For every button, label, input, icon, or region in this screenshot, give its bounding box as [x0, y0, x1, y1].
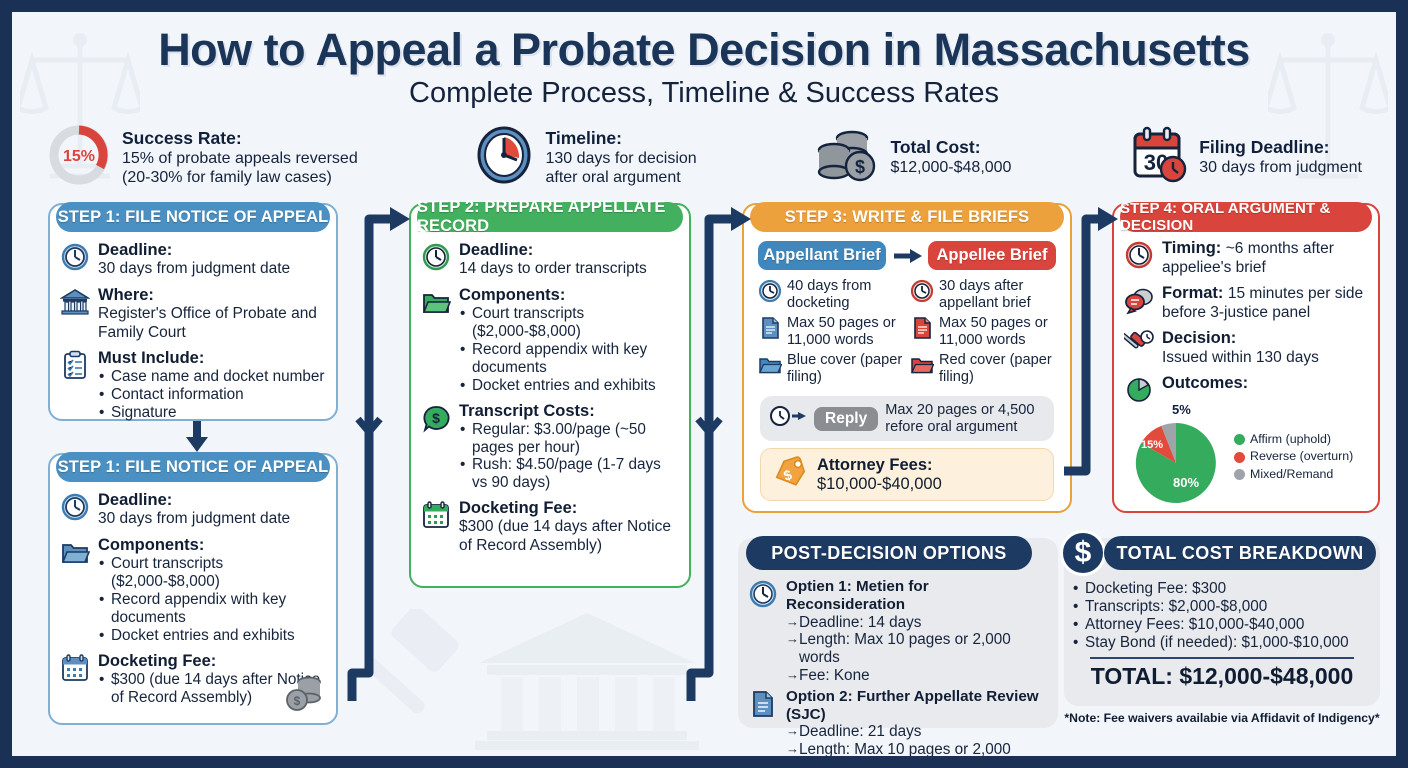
brief-pills: Appellant Brief Appellee Brief: [758, 241, 1056, 270]
clock-blue-icon: [758, 279, 782, 303]
panel-cost-breakdown: $ TOTAL COST BREAKDOWN Docketing Fee: $3…: [1064, 538, 1380, 706]
row-deadline: Deadline:30 days from judgment date: [60, 491, 326, 529]
option-line: Length: Max 10 pages or 2,000 words: [786, 631, 1046, 667]
option-2-list: Deadline: 21 days Length: Max 10 pages o…: [786, 723, 1046, 760]
stat-value-line1: 30 days from judgment: [1199, 159, 1362, 178]
option-1-head: Optien 1: Metien for Reconsideration: [786, 578, 1046, 613]
clock-icon: [473, 124, 535, 191]
row-components: Components: Court transcripts ($2,000-$8…: [421, 286, 679, 395]
stats-strip: 15% Success Rate: 15% of probate appeals…: [12, 110, 1396, 193]
bullet-item: Docket entries and exhibits: [98, 627, 326, 645]
speech-icon: [1124, 285, 1154, 315]
bullet-item: Regular: $3.00/page (~50 pages per hour): [459, 421, 679, 457]
appellee-brief-pill[interactable]: Appellee Brief: [928, 241, 1056, 270]
option-1: Optien 1: Metien for Reconsideration Dea…: [748, 578, 1046, 685]
page-subtitle: Complete Process, Timeline & Success Rat…: [12, 77, 1396, 110]
appellant-length: Max 50 pages or 11,000 words: [758, 315, 904, 348]
appellee-length-text: Max 50 pages or 11,000 words: [939, 315, 1056, 348]
legend-label: Mixed/Remand: [1250, 466, 1333, 484]
clock-red-icon: [910, 279, 934, 303]
row-outcomes: Outcomes:: [1124, 374, 1368, 405]
stat-value-line2: after oral argument: [545, 169, 696, 188]
appellee-length: Max 50 pages or 11,000 words: [910, 315, 1056, 348]
row-deadline: Deadline:14 days to order transcripts: [421, 241, 679, 279]
infographic-frame: How to Appeal a Probate Decision in Mass…: [8, 8, 1400, 760]
stat-success-rate: 15% Success Rate: 15% of probate appeals…: [46, 122, 358, 193]
option-line: Deadline: 21 days: [786, 723, 1046, 741]
appellant-timing: 40 days from docketing: [758, 278, 904, 311]
gavel-clock-icon: [1124, 330, 1154, 360]
row-timing: Timing: ~6 months after appeliee's brief: [1124, 239, 1368, 277]
row-text: Issued within 130 days: [1162, 349, 1319, 366]
steps-board: STEP 1: FILE NOTICE OF APPEAL Deadline:3…: [12, 203, 1396, 749]
row-text: 30 days from judgment date: [98, 260, 290, 277]
outcomes-pie-chart: 5% 80% 15% Affirm (uphold) Reverse (over: [1128, 403, 1368, 503]
page-title: How to Appeal a Probate Decision in Mass…: [12, 26, 1396, 73]
reply-tag: Reply: [814, 407, 878, 431]
legend-swatch: [1234, 434, 1245, 445]
panel-post-decision: POST-DECISION OPTIONS Optien 1: Metien f…: [738, 538, 1058, 728]
appellant-cover: Blue cover (paper filing): [758, 352, 904, 385]
attorney-fees-label: Attorney Fees:: [817, 456, 933, 474]
document-red-icon: [910, 316, 934, 340]
price-tag-icon: $: [771, 455, 809, 494]
option-line: Fee: Kone: [786, 667, 1046, 685]
document-blue-icon: [748, 689, 778, 719]
cost-item: Docketing Fee: $300: [1072, 580, 1372, 598]
row-docketing-fee: Docketing Fee:$300 (due 14 days after No…: [421, 499, 679, 555]
bullet-item: Contact information: [98, 386, 326, 404]
pie-svg: 80% 15%: [1128, 415, 1224, 511]
fee-waiver-note: *Note: Fee waivers availabie via Affidav…: [1064, 711, 1380, 725]
row-head: Deadline:: [98, 241, 326, 260]
coins-icon: $: [812, 124, 880, 191]
clock-green-icon: [421, 242, 451, 272]
row-head: Components:: [98, 536, 326, 555]
appellant-column: 40 days from docketing Max 50 pages or 1…: [758, 278, 904, 389]
divider: [1090, 657, 1354, 659]
pie-icon: [1124, 375, 1154, 405]
appellee-timing-text: 30 days after appellant brief: [939, 278, 1056, 311]
row-deadline: Deadline:30 days from judgment date: [60, 241, 326, 279]
row-text: 14 days to order transcripts: [459, 260, 647, 277]
row-head: Must Include:: [98, 349, 326, 368]
money-bubble-icon: $: [421, 403, 451, 433]
bullet-item: Court transcripts ($2,000-$8,000): [459, 305, 679, 341]
arrow-right-icon: [892, 246, 922, 266]
attorney-fees-value: $10,000-$40,000: [817, 475, 942, 493]
stat-value-line1: 130 days for decision: [545, 150, 696, 169]
appellant-brief-pill[interactable]: Appellant Brief: [758, 241, 886, 270]
stat-value-line1: $12,000-$48,000: [890, 159, 1011, 178]
card-step4: STEP 4: ORAL ARGUMENT & DECISION Timing:…: [1112, 203, 1380, 513]
bullet-list: Case name and docket number Contact info…: [98, 368, 326, 422]
infographic-root: How to Appeal a Probate Decision in Mass…: [0, 0, 1408, 768]
stat-value-line1: 15% of probate appeals reversed: [122, 150, 358, 169]
legend-swatch: [1234, 469, 1245, 480]
option-1-list: Deadline: 14 days Length: Max 10 pages o…: [786, 614, 1046, 686]
row-text: Register's Office of Probate and Family …: [98, 305, 317, 341]
row-head: Timing:: [1162, 239, 1221, 257]
reply-brief-bar: Reply Max 20 pages or 4,500 refore oral …: [760, 396, 1054, 441]
row-must-include: Must Include: Case name and docket numbe…: [60, 349, 326, 422]
bullet-item: Court transcripts ($2,000-$8,000): [98, 555, 326, 591]
bullet-item: Case name and docket number: [98, 368, 326, 386]
row-head: Docketing Fee:: [98, 652, 326, 671]
option-line: Deadline: 14 days: [786, 614, 1046, 632]
row-head: Transcript Costs:: [459, 402, 679, 421]
legend-item-reverse: Reverse (overturn): [1234, 448, 1353, 466]
stat-filing-deadline: 30 Filing Deadline: 30 days from judgmen…: [1127, 122, 1362, 193]
card-step2: STEP 2: PREPARE APPELLATE RECORD Deadlin…: [409, 203, 691, 588]
legend-swatch: [1234, 452, 1245, 463]
row-text: $300 (due 14 days after Notice of Record…: [459, 518, 671, 554]
svg-text:$: $: [855, 157, 865, 177]
legend-label: Affirm (uphold): [1250, 431, 1331, 449]
courthouse-icon: [60, 287, 90, 317]
card-step3: STEP 3: WRITE & FILE BRIEFS Appellant Br…: [742, 203, 1072, 513]
stat-value-line2: (20-30% for family law cases): [122, 169, 358, 188]
bullet-list: Regular: $3.00/page (~50 pages per hour)…: [459, 421, 679, 493]
folder-green-icon: [421, 287, 451, 317]
legend-item-mixed: Mixed/Remand: [1234, 466, 1353, 484]
legend-label: Reverse (overturn): [1250, 448, 1353, 466]
clock-icon: [60, 492, 90, 522]
appellee-column: 30 days after appellant brief Max 50 pag…: [910, 278, 1056, 389]
clock-arrow-icon: [769, 405, 807, 432]
card-step1b: STEP 1: FILE NOTICE OF APPEAL Deadline:3…: [48, 453, 338, 725]
appellant-timing-text: 40 days from docketing: [787, 278, 904, 311]
calendar-green-icon: [421, 500, 451, 530]
cost-item: Stay Bond (if needed): $1,000-$10,000: [1072, 634, 1372, 652]
donut-15-percent-icon: 15%: [46, 122, 112, 193]
row-decision: Decision:Issued within 130 days: [1124, 329, 1368, 367]
row-head: Docketing Fee:: [459, 499, 679, 518]
cost-items: Docketing Fee: $300 Transcripts: $2,000-…: [1072, 580, 1372, 652]
cost-total: TOTAL: $12,000-$48,000: [1072, 663, 1372, 690]
option-2: Option 2: Further Appellate Review (SJC)…: [748, 688, 1046, 760]
coins-decoration-icon: $: [284, 672, 326, 717]
pie-legend: Affirm (uphold) Reverse (overturn) Mixed…: [1234, 431, 1353, 484]
document-blue-icon: [758, 316, 782, 340]
dollar-badge-icon: $: [1060, 530, 1106, 576]
row-head: Components:: [459, 286, 679, 305]
folder-blue-icon: [758, 353, 782, 377]
attorney-fees-bar: $ Attorney Fees: $10,000-$40,000: [760, 448, 1054, 501]
folder-red-icon: [910, 353, 934, 377]
card-step1a-title: STEP 1: FILE NOTICE OF APPEAL: [56, 202, 330, 232]
card-step2-title: STEP 2: PREPARE APPELLATE RECORD: [417, 202, 683, 232]
pie-label-affirm: 80%: [1173, 475, 1199, 490]
row-components: Components: Court transcripts ($2,000-$8…: [60, 536, 326, 645]
cost-total-label: TOTAL:: [1091, 663, 1173, 689]
stat-label: Filing Deadline:: [1199, 137, 1329, 157]
appellee-timing: 30 days after appellant brief: [910, 278, 1056, 311]
clock-red-icon: [1124, 240, 1154, 270]
cost-breakdown-title: TOTAL COST BREAKDOWN: [1104, 536, 1376, 570]
bullet-item: Record appendix with key documents: [98, 591, 326, 627]
pie-label-reverse: 15%: [1141, 439, 1163, 451]
row-text: 30 days from judgment date: [98, 510, 290, 527]
bullet-item: Signature: [98, 404, 326, 422]
row-head: Format:: [1162, 284, 1223, 302]
row-head: Where:: [98, 286, 326, 305]
clipboard-icon: [60, 350, 90, 380]
option-line: Length: Max 10 pages or 2,000 words: [786, 741, 1046, 760]
stat-total-cost: $ Total Cost: $12,000-$48,000: [812, 122, 1011, 193]
bullet-item: Docket entries and exhibits: [459, 377, 679, 395]
svg-text:$: $: [294, 694, 301, 708]
row-transcript-costs: $ Transcript Costs: Regular: $3.00/page …: [421, 402, 679, 493]
cost-total-value: $12,000-$48,000: [1179, 663, 1353, 689]
row-where: Where:Register's Office of Probate and F…: [60, 286, 326, 342]
card-step1b-title: STEP 1: FILE NOTICE OF APPEAL: [56, 452, 330, 482]
card-step1a: STEP 1: FILE NOTICE OF APPEAL Deadline:3…: [48, 203, 338, 421]
folder-icon: [60, 537, 90, 567]
cost-item: Transcripts: $2,000-$8,000: [1072, 598, 1372, 616]
svg-text:15%: 15%: [63, 148, 95, 165]
connector-step1-to-step2: [342, 203, 412, 713]
brief-columns: 40 days from docketing Max 50 pages or 1…: [754, 278, 1060, 389]
legend-item-affirm: Affirm (uphold): [1234, 431, 1353, 449]
bullet-item: Record appendix with key documents: [459, 341, 679, 377]
stat-label: Total Cost:: [890, 137, 980, 157]
row-head: Deadline:: [459, 241, 679, 260]
stat-timeline: Timeline: 130 days for decision after or…: [473, 122, 696, 193]
calendar-icon: [60, 653, 90, 683]
svg-text:$: $: [432, 410, 440, 426]
row-head: Decision:: [1162, 329, 1368, 348]
stat-label: Success Rate:: [122, 128, 242, 148]
cost-item: Attorney Fees: $10,000-$40,000: [1072, 616, 1372, 634]
appellant-cover-text: Blue cover (paper filing): [787, 352, 904, 385]
row-head: Deadline:: [98, 491, 326, 510]
appellee-cover-text: Red cover (paper filing): [939, 352, 1056, 385]
card-step3-title: STEP 3: WRITE & FILE BRIEFS: [750, 202, 1064, 232]
bullet-item: Rush: $4.50/page (1-7 days vs 90 days): [459, 456, 679, 492]
reply-text: Max 20 pages or 4,500 refore oral argume…: [885, 402, 1045, 435]
appellee-cover: Red cover (paper filing): [910, 352, 1056, 385]
post-decision-title: POST-DECISION OPTIONS: [746, 536, 1032, 570]
bullet-list: Court transcripts ($2,000-$8,000) Record…: [98, 555, 326, 644]
appellant-length-text: Max 50 pages or 11,000 words: [787, 315, 904, 348]
clock-icon: [60, 242, 90, 272]
bullet-list: Court transcripts ($2,000-$8,000) Record…: [459, 305, 679, 394]
card-step4-title: STEP 4: ORAL ARGUMENT & DECISION: [1120, 202, 1372, 232]
clock-icon: [748, 579, 778, 609]
row-format: Format: 15 minutes per side before 3-jus…: [1124, 284, 1368, 322]
option-2-head: Option 2: Further Appellate Review (SJC): [786, 688, 1046, 723]
row-head: Outcomes:: [1162, 374, 1368, 393]
stat-label: Timeline:: [545, 128, 622, 148]
calendar-30-icon: 30: [1127, 125, 1189, 190]
